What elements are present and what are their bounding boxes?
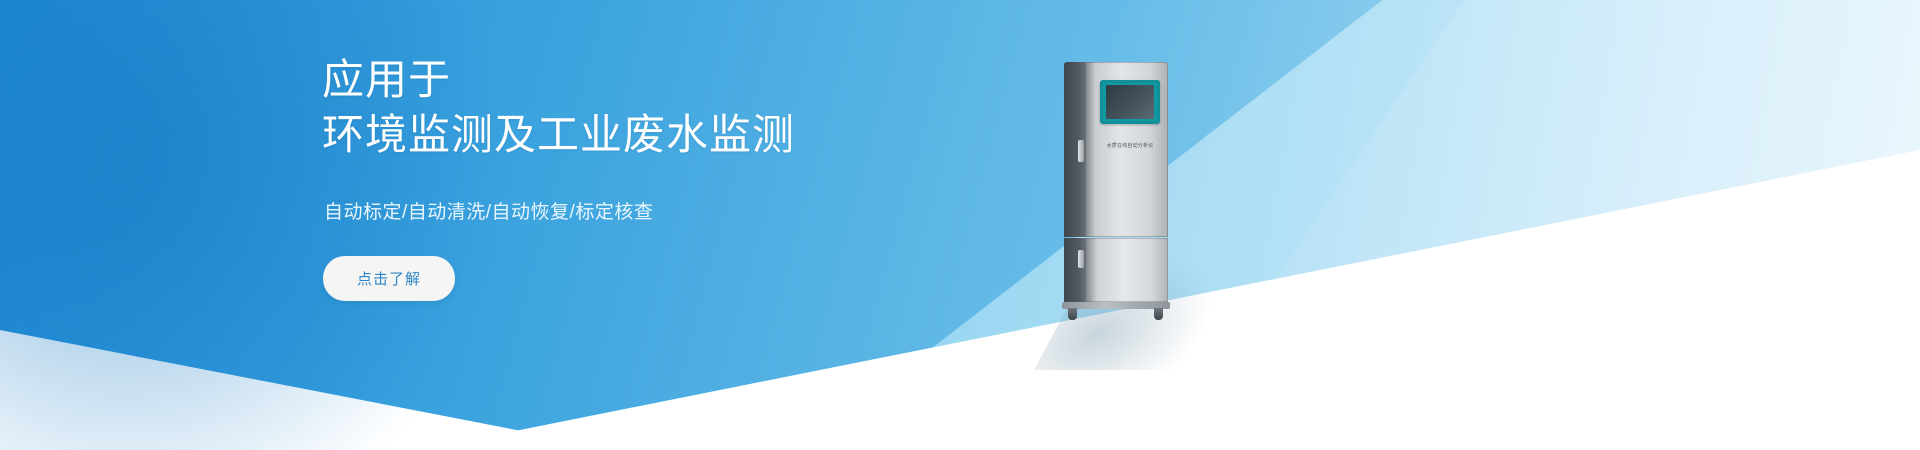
hero-banner: 应用于 环境监测及工业废水监测 自动标定/自动清洗/自动恢复/标定核查 点击了解… [0, 0, 1920, 450]
analyzer-caster-left [1068, 308, 1077, 320]
banner-copy-block: 应用于 环境监测及工业废水监测 自动标定/自动清洗/自动恢复/标定核查 点击了解 [322, 52, 962, 301]
headline-line-1: 应用于 [322, 56, 451, 103]
headline-line-2: 环境监测及工业废水监测 [322, 107, 962, 162]
page-title: 应用于 环境监测及工业废水监测 [322, 52, 962, 163]
analyzer-caster-right [1154, 308, 1163, 320]
analyzer-upper-door-handle [1078, 140, 1084, 162]
banner-subheadline: 自动标定/自动清洗/自动恢复/标定核查 [324, 197, 962, 224]
analyzer-display-screen [1100, 80, 1160, 124]
analyzer-upper-cabinet: 水质在线自动分析仪 [1064, 62, 1168, 237]
learn-more-button[interactable]: 点击了解 [323, 256, 455, 301]
analyzer-lower-side-panel [1064, 238, 1086, 302]
analyzer-lower-cabinet [1064, 238, 1168, 302]
analyzer-device-label: 水质在线自动分析仪 [1092, 144, 1168, 149]
analyzer-display-inner [1106, 85, 1154, 119]
product-image-water-quality-analyzer: 水质在线自动分析仪 [1062, 62, 1192, 322]
analyzer-lower-door-handle [1078, 250, 1084, 268]
